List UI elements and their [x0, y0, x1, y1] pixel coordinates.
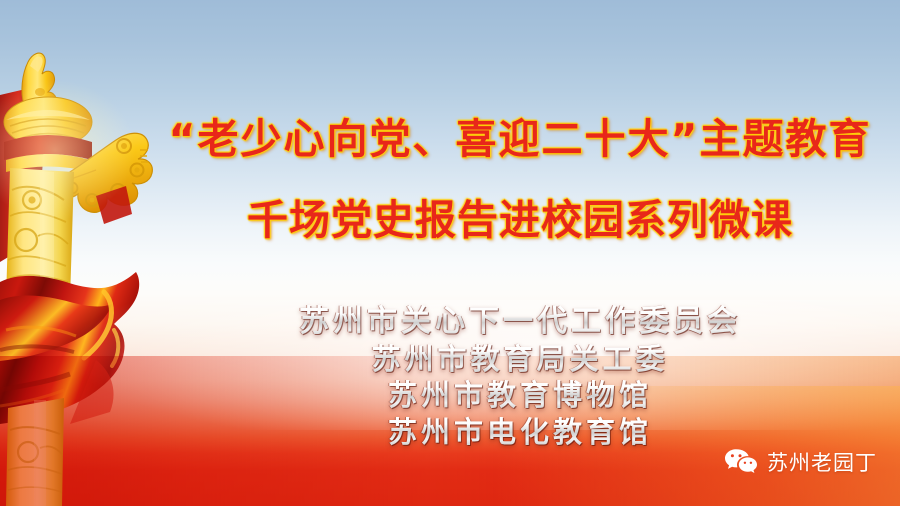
title-block: “老少心向党、喜迎二十大”主题教育 千场党史报告进校园系列微课 — [140, 118, 900, 242]
wechat-icon — [724, 447, 758, 477]
organization-block: 苏州市关心下一代工作委员会 苏州市教育局关工委 苏州市教育博物馆 苏州市电化教育… — [160, 303, 880, 450]
red-silk-ribbon — [0, 272, 139, 424]
poster-root: “老少心向党、喜迎二十大”主题教育 千场党史报告进校园系列微课 苏州市关心下一代… — [0, 0, 900, 506]
organization-line-2: 苏州市教育局关工委 — [160, 341, 880, 378]
wechat-account-name: 苏州老园丁 — [767, 447, 877, 477]
title-line-1: “老少心向党、喜迎二十大”主题教育 — [140, 118, 900, 161]
organization-line-4: 苏州市电化教育馆 — [160, 414, 880, 451]
wechat-watermark: 苏州老园丁 — [724, 447, 877, 477]
organization-line-1: 苏州市关心下一代工作委员会 — [160, 303, 880, 341]
title-line-2: 千场党史报告进校园系列微课 — [140, 199, 900, 242]
organization-line-3: 苏州市教育博物馆 — [160, 377, 880, 414]
huabiao-shaft-lower — [6, 398, 64, 506]
